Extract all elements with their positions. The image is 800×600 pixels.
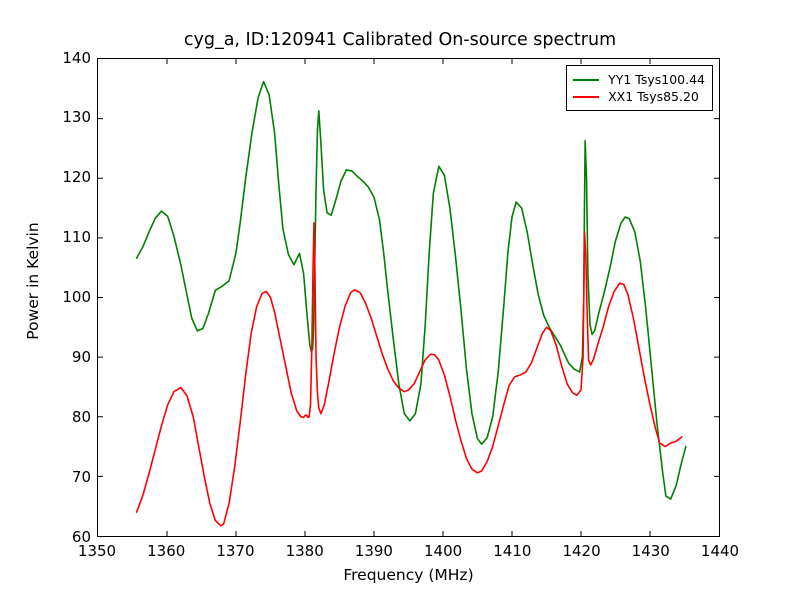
y-tick-70: 70 <box>45 470 91 485</box>
series-lines <box>137 82 686 526</box>
x-tick-1420: 1420 <box>547 544 617 559</box>
x-tick-1390: 1390 <box>339 544 409 559</box>
y-tick-120: 120 <box>45 170 91 185</box>
axis-ticks <box>98 59 719 536</box>
y-tick-110: 110 <box>45 230 91 245</box>
spectrum-svg <box>98 59 719 536</box>
x-tick-labels: 1350136013701380139014001410142014301440 <box>97 544 720 566</box>
legend-swatch-xx1 <box>573 96 599 98</box>
series-line-yy1 <box>137 82 686 499</box>
y-tick-130: 130 <box>45 110 91 125</box>
y-tick-100: 100 <box>45 290 91 305</box>
page-title: cyg_a, ID:120941 Calibrated On-source sp… <box>0 30 800 50</box>
x-tick-1350: 1350 <box>62 544 132 559</box>
y-tick-140: 140 <box>45 51 91 66</box>
legend-item-xx1: XX1 Tsys85.20 <box>573 88 705 105</box>
figure-canvas: cyg_a, ID:120941 Calibrated On-source sp… <box>0 0 800 600</box>
legend-label-xx1: XX1 Tsys85.20 <box>608 90 699 103</box>
x-tick-1370: 1370 <box>200 544 270 559</box>
legend-label-yy1: YY1 Tsys100.44 <box>608 73 705 86</box>
x-axis-label: Frequency (MHz) <box>97 566 720 584</box>
x-tick-1380: 1380 <box>270 544 340 559</box>
plot-area: YY1 Tsys100.44 XX1 Tsys85.20 <box>97 58 720 537</box>
x-tick-1400: 1400 <box>408 544 478 559</box>
legend-swatch-yy1 <box>573 79 599 81</box>
x-tick-1440: 1440 <box>685 544 755 559</box>
legend-item-yy1: YY1 Tsys100.44 <box>573 71 705 88</box>
legend-box: YY1 Tsys100.44 XX1 Tsys85.20 <box>566 65 713 111</box>
series-line-xx1 <box>137 223 682 526</box>
y-tick-80: 80 <box>45 410 91 425</box>
x-tick-1430: 1430 <box>616 544 686 559</box>
y-axis-label: Power in Kelvin <box>24 171 42 391</box>
x-tick-1360: 1360 <box>131 544 201 559</box>
x-tick-1410: 1410 <box>477 544 547 559</box>
y-tick-90: 90 <box>45 350 91 365</box>
y-tick-labels: 60708090100110120130140 <box>41 58 91 537</box>
